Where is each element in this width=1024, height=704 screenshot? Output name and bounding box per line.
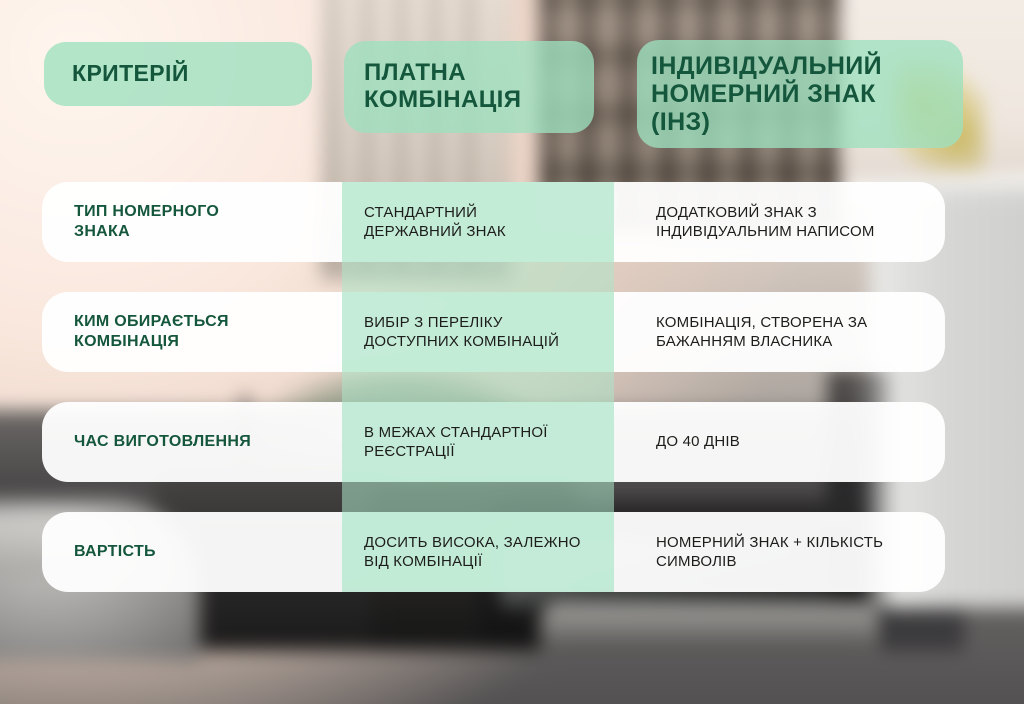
cell-paid-combination: В МЕЖАХ СТАНДАРТНОЇ РЕЄСТРАЦІЇ [342, 402, 614, 482]
cell-paid-text: ДОСИТЬ ВИСОКА, ЗАЛЕЖНО ВІД КОМБІНАЦІЇ [364, 533, 581, 571]
header-cell-individual-plate: ІНДИВІДУАЛЬНИЙ НОМЕРНИЙ ЗНАК (ІНЗ) [637, 40, 963, 148]
cell-paid-combination: СТАНДАРТНИЙ ДЕРЖАВНИЙ ЗНАК [342, 182, 614, 262]
cell-paid-text: СТАНДАРТНИЙ ДЕРЖАВНИЙ ЗНАК [364, 203, 506, 241]
cell-inz-text: ДО 40 ДНІВ [656, 432, 740, 451]
cell-criterion-text: ТИП НОМЕРНОГО ЗНАКА [74, 202, 219, 242]
cell-individual-plate: КОМБІНАЦІЯ, СТВОРЕНА ЗА БАЖАННЯМ ВЛАСНИК… [632, 292, 945, 372]
cell-individual-plate: НОМЕРНИЙ ЗНАК + КІЛЬКІСТЬ СИМВОЛІВ [632, 512, 945, 592]
cell-individual-plate: ДОДАТКОВИЙ ЗНАК З ІНДИВІДУАЛЬНИМ НАПИСОМ [632, 182, 945, 262]
cell-individual-plate: ДО 40 ДНІВ [632, 402, 945, 482]
cell-criterion: ТИП НОМЕРНОГО ЗНАКА [42, 182, 342, 262]
cell-criterion-text: ЧАС ВИГОТОВЛЕННЯ [74, 432, 251, 452]
header-label-individual-plate: ІНДИВІДУАЛЬНИЙ НОМЕРНИЙ ЗНАК (ІНЗ) [651, 52, 882, 136]
cell-criterion-text: ВАРТІСТЬ [74, 542, 156, 562]
cell-criterion: ЧАС ВИГОТОВЛЕННЯ [42, 402, 342, 482]
cell-paid-text: В МЕЖАХ СТАНДАРТНОЇ РЕЄСТРАЦІЇ [364, 423, 548, 461]
cell-paid-combination: ДОСИТЬ ВИСОКА, ЗАЛЕЖНО ВІД КОМБІНАЦІЇ [342, 512, 614, 592]
table-row: ТИП НОМЕРНОГО ЗНАКА СТАНДАРТНИЙ ДЕРЖАВНИ… [42, 182, 945, 262]
cell-paid-text: ВИБІР З ПЕРЕЛІКУ ДОСТУПНИХ КОМБІНАЦІЙ [364, 313, 559, 351]
cell-criterion-text: КИМ ОБИРАЄТЬСЯ КОМБІНАЦІЯ [74, 312, 229, 352]
cell-inz-text: КОМБІНАЦІЯ, СТВОРЕНА ЗА БАЖАННЯМ ВЛАСНИК… [656, 313, 867, 351]
cell-inz-text: НОМЕРНИЙ ЗНАК + КІЛЬКІСТЬ СИМВОЛІВ [656, 533, 883, 571]
header-label-paid-combination: ПЛАТНА КОМБІНАЦІЯ [364, 60, 521, 114]
comparison-table: КРИТЕРІЙ ПЛАТНА КОМБІНАЦІЯ ІНДИВІДУАЛЬНИ… [0, 0, 1024, 704]
header-cell-paid-combination: ПЛАТНА КОМБІНАЦІЯ [344, 41, 594, 133]
cell-paid-combination: ВИБІР З ПЕРЕЛІКУ ДОСТУПНИХ КОМБІНАЦІЙ [342, 292, 614, 372]
cell-inz-text: ДОДАТКОВИЙ ЗНАК З ІНДИВІДУАЛЬНИМ НАПИСОМ [656, 203, 875, 241]
table-row: ЧАС ВИГОТОВЛЕННЯ В МЕЖАХ СТАНДАРТНОЇ РЕЄ… [42, 402, 945, 482]
cell-criterion: КИМ ОБИРАЄТЬСЯ КОМБІНАЦІЯ [42, 292, 342, 372]
header-label-criterion: КРИТЕРІЙ [72, 61, 189, 87]
header-cell-criterion: КРИТЕРІЙ [44, 42, 312, 106]
table-row: ВАРТІСТЬ ДОСИТЬ ВИСОКА, ЗАЛЕЖНО ВІД КОМБ… [42, 512, 945, 592]
table-row: КИМ ОБИРАЄТЬСЯ КОМБІНАЦІЯ ВИБІР З ПЕРЕЛІ… [42, 292, 945, 372]
cell-criterion: ВАРТІСТЬ [42, 512, 342, 592]
table-header: КРИТЕРІЙ ПЛАТНА КОМБІНАЦІЯ ІНДИВІДУАЛЬНИ… [0, 0, 1024, 160]
infographic-comparison-table: КРИТЕРІЙ ПЛАТНА КОМБІНАЦІЯ ІНДИВІДУАЛЬНИ… [0, 0, 1024, 704]
